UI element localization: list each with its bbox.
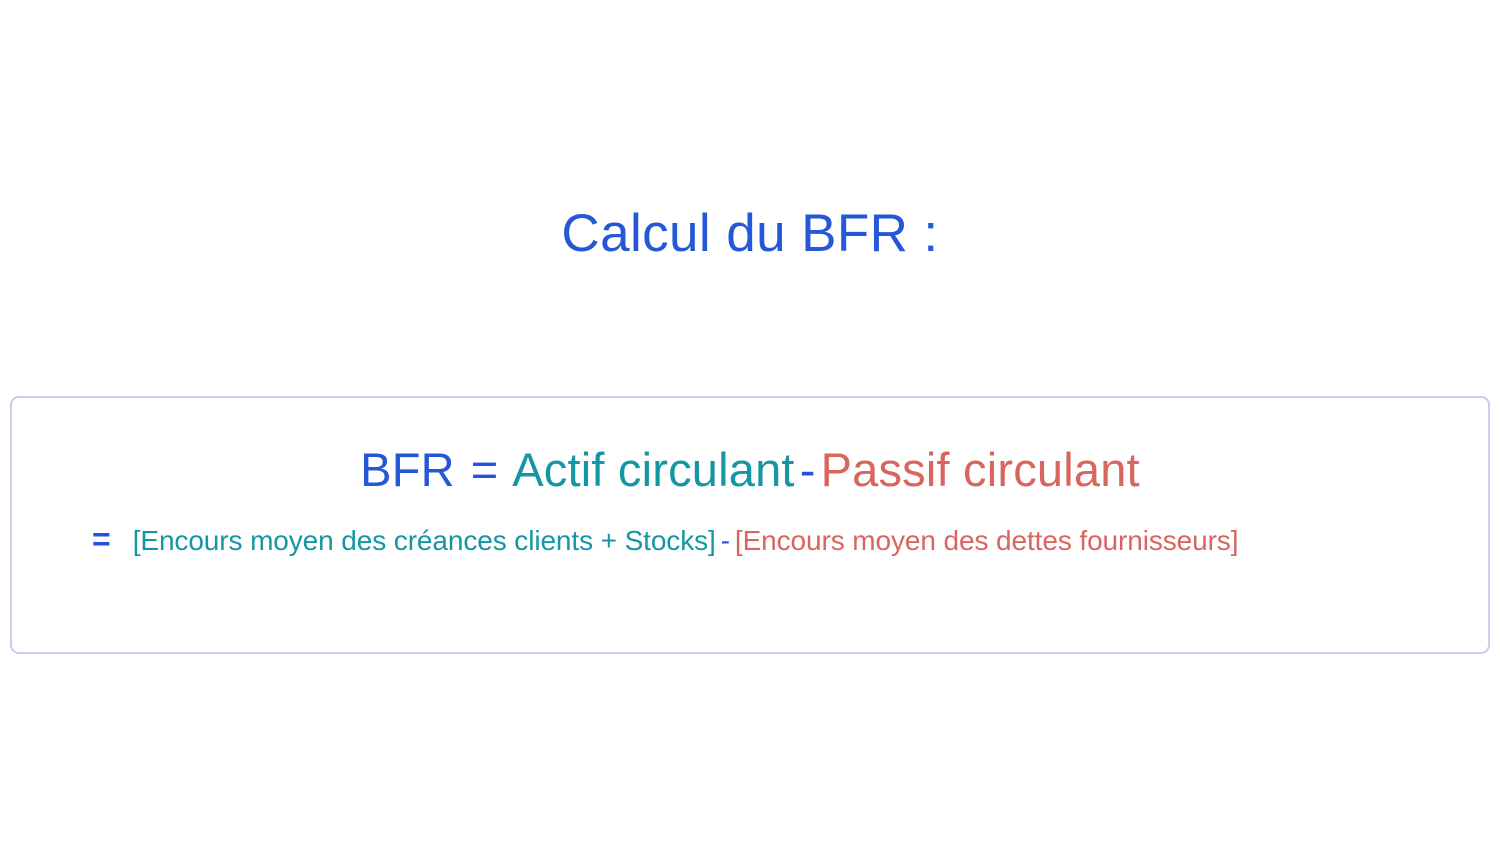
- formula-term-bfr: BFR: [360, 443, 455, 496]
- formula-minus-operator-detail: -: [721, 524, 730, 558]
- formula-detail-passif: [Encours moyen des dettes fournisseurs]: [735, 524, 1238, 558]
- formula-equals-sign-primary: =: [471, 443, 498, 496]
- page-title: Calcul du BFR :: [0, 205, 1500, 263]
- formula-detail-actif: [Encours moyen des créances clients + St…: [133, 524, 716, 558]
- formula-minus-operator-primary: -: [800, 443, 816, 496]
- formula-line-primary: BFR=Actif circulant-Passif circulant: [12, 443, 1488, 497]
- formula-card: BFR=Actif circulant-Passif circulant =[E…: [10, 396, 1490, 654]
- formula-equals-sign-detail: =: [92, 520, 111, 558]
- formula-line-detail: =[Encours moyen des créances clients + S…: [92, 520, 1480, 558]
- formula-term-actif-circulant: Actif circulant: [512, 443, 794, 496]
- formula-term-passif-circulant: Passif circulant: [821, 443, 1140, 496]
